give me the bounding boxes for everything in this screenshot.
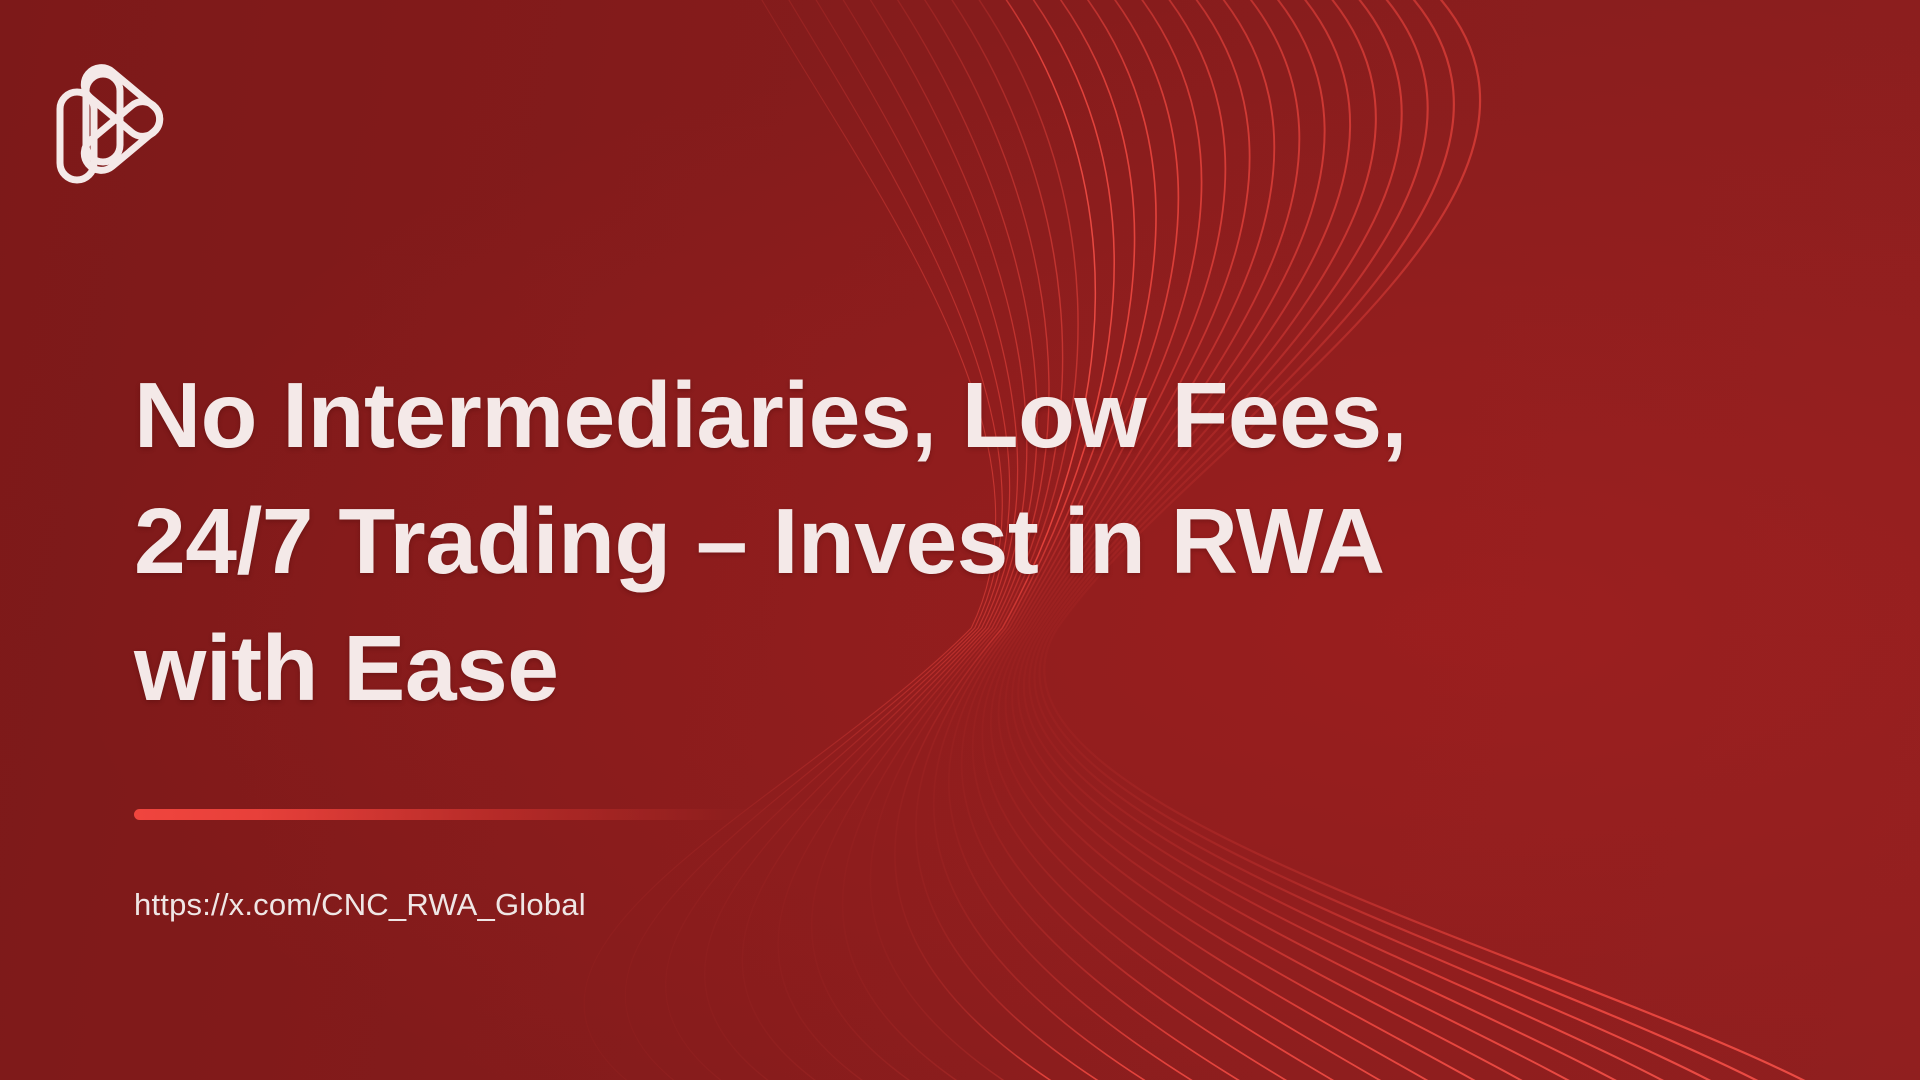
content-block: No Intermediaries, Low Fees, 24/7 Tradin… <box>134 352 1424 924</box>
page-title: No Intermediaries, Low Fees, 24/7 Tradin… <box>134 352 1424 731</box>
promo-slide: No Intermediaries, Low Fees, 24/7 Tradin… <box>0 0 1920 1080</box>
brand-logo <box>56 52 178 184</box>
profile-url[interactable]: https://x.com/CNC_RWA_Global <box>134 886 1424 923</box>
accent-divider-bar <box>134 809 894 820</box>
